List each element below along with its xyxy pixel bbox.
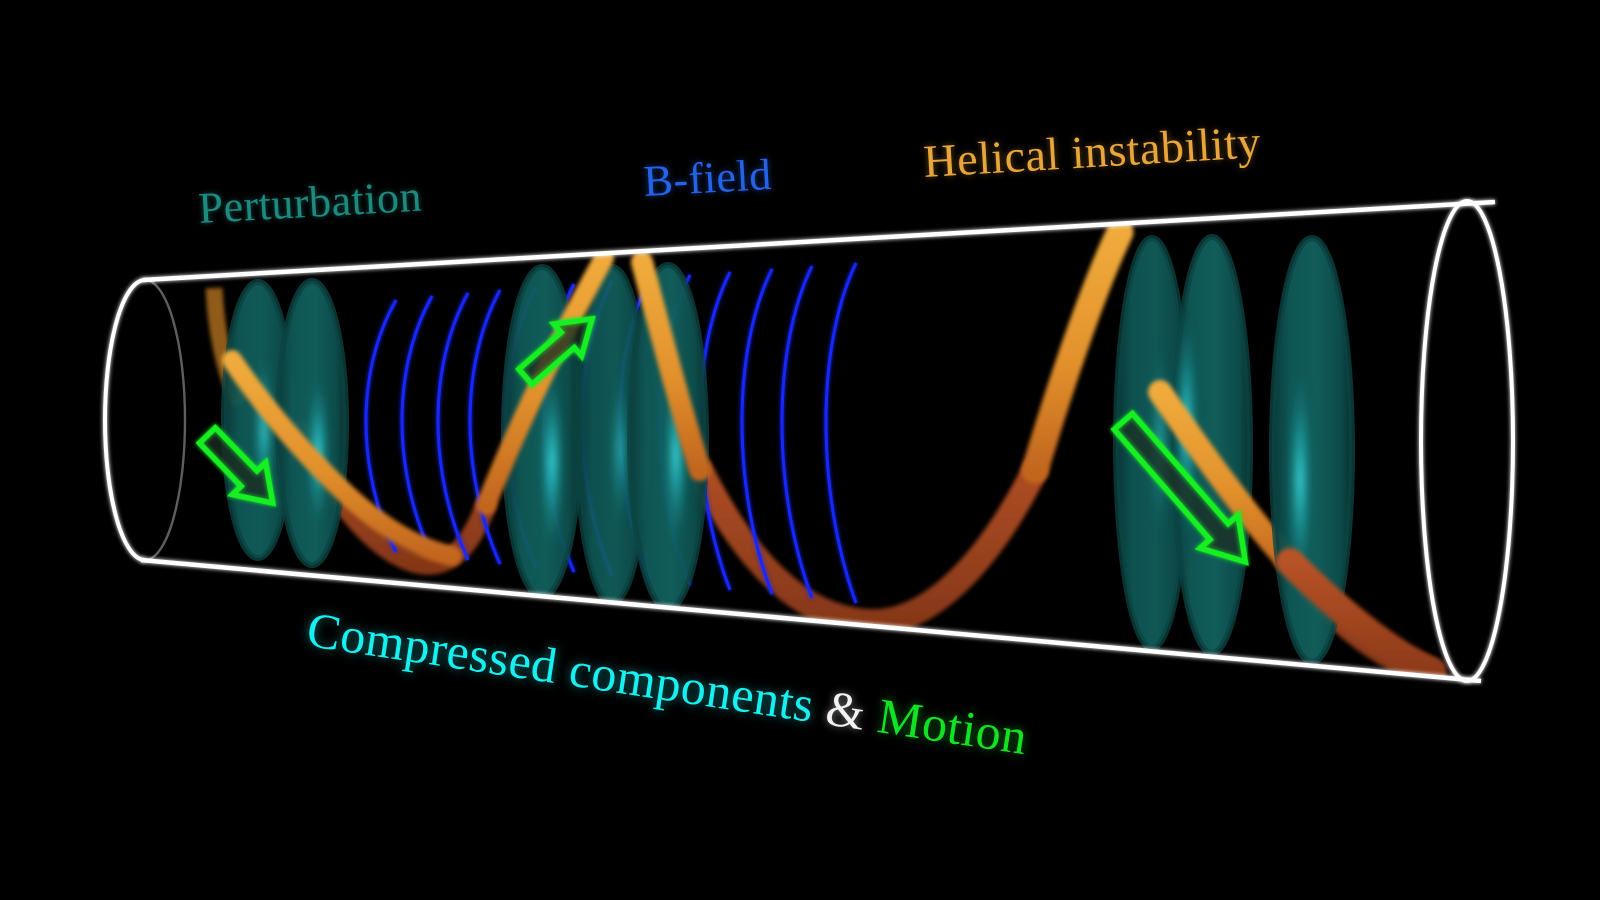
diagram-scene — [0, 0, 1600, 900]
label-bfield: B-field — [642, 149, 773, 207]
figure-canvas: Perturbation B-field Helical instability… — [0, 0, 1600, 900]
